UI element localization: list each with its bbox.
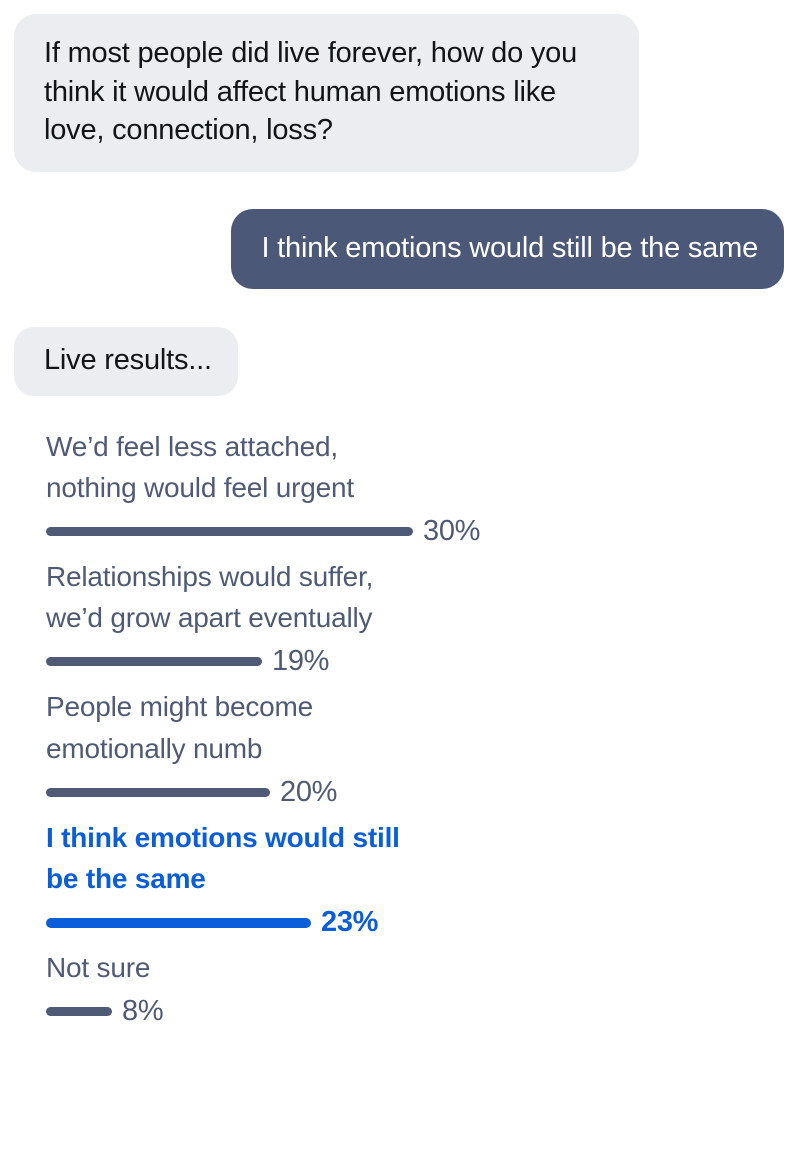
message-row-answer: I think emotions would still be the same	[0, 209, 798, 290]
poll-option-bar	[46, 788, 270, 797]
poll-option-meter: 23%	[46, 908, 752, 937]
poll-option-4[interactable]: Not sure 8%	[46, 947, 752, 1026]
poll-option-meter: 20%	[46, 778, 752, 807]
poll-option-bar	[46, 657, 262, 666]
poll-results-list: We’d feel less attached, nothing would f…	[0, 426, 798, 1026]
poll-option-percent: 20%	[280, 778, 337, 807]
message-row-live-results: Live results...	[0, 327, 798, 396]
message-bubble-answer: I think emotions would still be the same	[231, 209, 784, 290]
poll-option-label: I think emotions would still be the same	[46, 817, 752, 899]
poll-option-meter: 8%	[46, 997, 752, 1026]
message-row-question: If most people did live forever, how do …	[0, 14, 798, 172]
poll-option-2[interactable]: People might become emotionally numb 20%	[46, 686, 752, 806]
poll-option-percent: 30%	[423, 517, 480, 546]
poll-option-label: Not sure	[46, 947, 752, 988]
poll-option-bar	[46, 527, 413, 536]
poll-option-label: We’d feel less attached, nothing would f…	[46, 426, 752, 508]
message-bubble-live-results: Live results...	[14, 327, 238, 396]
poll-option-percent: 19%	[272, 647, 329, 676]
poll-option-label: People might become emotionally numb	[46, 686, 752, 768]
poll-results-screen: If most people did live forever, how do …	[0, 14, 798, 1168]
poll-option-percent: 23%	[321, 908, 378, 937]
poll-option-bar	[46, 918, 311, 928]
poll-option-bar	[46, 1007, 112, 1016]
poll-option-percent: 8%	[122, 997, 163, 1026]
poll-option-3-selected[interactable]: I think emotions would still be the same…	[46, 817, 752, 937]
message-bubble-question: If most people did live forever, how do …	[14, 14, 639, 172]
poll-option-1[interactable]: Relationships would suffer, we’d grow ap…	[46, 556, 752, 676]
poll-option-meter: 19%	[46, 647, 752, 676]
poll-option-0[interactable]: We’d feel less attached, nothing would f…	[46, 426, 752, 546]
poll-option-meter: 30%	[46, 517, 752, 546]
poll-option-label: Relationships would suffer, we’d grow ap…	[46, 556, 752, 638]
